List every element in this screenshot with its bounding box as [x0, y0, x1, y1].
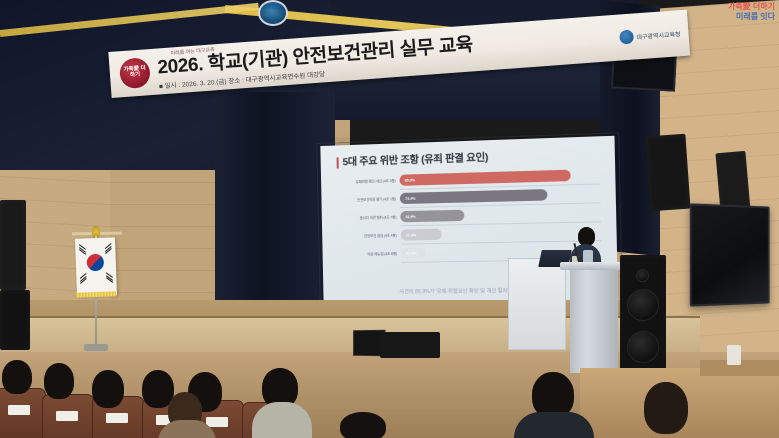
chart-category-label: 비상 매뉴얼 (4조 8항) — [339, 252, 402, 257]
chart-bar: 12.5% — [401, 247, 426, 259]
office-of-education-logo-icon — [619, 30, 634, 45]
audience-torso — [252, 402, 312, 438]
paper-cup — [727, 345, 741, 365]
chart-bar: 21.3% — [401, 229, 443, 241]
audience-torso — [514, 412, 594, 438]
chart-bar: 32.5% — [400, 210, 464, 223]
audience-head — [92, 370, 124, 408]
chart-category-label: 안전보건 점검 (4조 4항) — [338, 234, 401, 239]
chart-value-label: 32.5% — [405, 214, 416, 218]
pa-speaker-left — [0, 290, 30, 350]
wall-mounted-tv — [690, 203, 770, 306]
taeguk-symbol-icon — [87, 254, 105, 272]
chart-category-label: 안전보건목표 평가 (4조 1항) — [337, 197, 400, 203]
slide-title: 5대 주요 위반 조항 (유죄 판결 요인) — [337, 149, 600, 169]
podium-top-surface — [560, 262, 626, 270]
banner-organization: 대구광역시교육청 — [619, 26, 681, 44]
flag-stand-base — [84, 344, 108, 351]
audience-head — [2, 360, 32, 394]
chart-bar: 74.4% — [400, 189, 548, 204]
chart-category-label: 종사자 의견 청취 (4조 7항) — [338, 216, 401, 222]
chart-track: 21.3% — [401, 223, 602, 244]
banner-org-name: 대구광역시교육청 — [636, 29, 681, 41]
audience-head — [340, 412, 386, 438]
chart-value-label: 74.4% — [405, 196, 416, 200]
auditorium-photo: 가족愛 더하기 미래를 잇다 미래를 여는 대구교육 가족愛 더하기 2026.… — [0, 0, 779, 438]
organization-emblem-icon — [258, 0, 288, 26]
banner-seal-icon: 가족愛 더하기 — [119, 57, 151, 89]
watermark: 가족愛 더하기 미래를 잇다 — [728, 2, 775, 22]
pa-speaker-left-upper — [0, 200, 26, 290]
podium — [570, 265, 618, 373]
pa-speaker-stage-right — [620, 255, 666, 377]
chart-value-label: 21.3% — [406, 233, 417, 237]
chart-bar: 85.9% — [399, 170, 571, 186]
stage-equipment-panel — [508, 258, 566, 350]
watermark-line-1: 가족愛 더하기 — [728, 2, 775, 12]
chart-value-label: 12.5% — [406, 251, 417, 255]
korean-flag-icon — [75, 237, 117, 296]
watermark-line-2: 미래를 잇다 — [728, 12, 775, 22]
audience-head — [644, 382, 688, 434]
pa-speaker-ceiling — [645, 134, 690, 212]
chart-value-label: 85.9% — [405, 178, 416, 182]
audience-head — [44, 363, 74, 399]
equipment-cart — [380, 332, 440, 358]
chart-category-label: 유해위험 확인·개선 (4조 3항) — [337, 179, 400, 185]
